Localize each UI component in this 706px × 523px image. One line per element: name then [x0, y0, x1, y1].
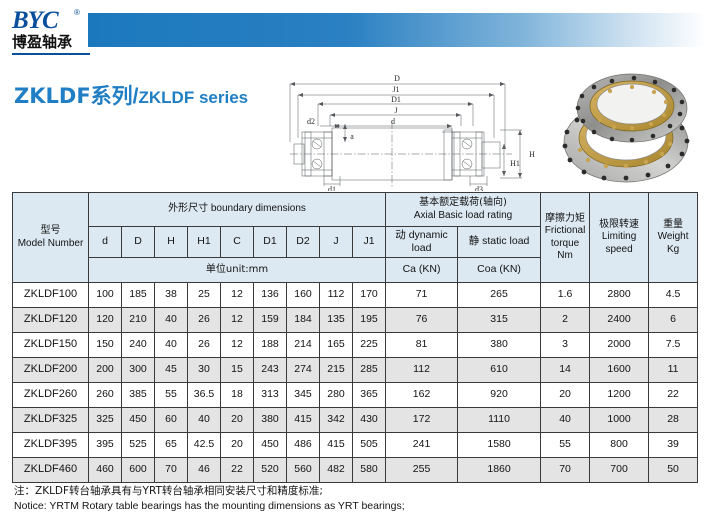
drawing-label-H: H — [529, 150, 535, 159]
cell-torque: 2 — [541, 308, 590, 333]
cell-D2: 415 — [287, 408, 320, 433]
drawing-label-d2: d2 — [307, 117, 315, 126]
cell-model-number: ZKLDF100 — [13, 283, 89, 308]
table-header-row-1: 型号 Model Number 外形尺寸 boundary dimensions… — [13, 193, 698, 227]
cell-H: 38 — [155, 283, 188, 308]
header-model-cn: 型号 — [13, 225, 88, 238]
cell-D1: 520 — [254, 458, 287, 483]
cell-H: 60 — [155, 408, 188, 433]
logo-text-byc: BYC — [12, 8, 58, 33]
cell-D: 210 — [122, 308, 155, 333]
cell-speed: 1200 — [590, 383, 649, 408]
header-coa-unit: Coa (KN) — [458, 258, 541, 283]
cell-H: 70 — [155, 458, 188, 483]
cell-H1: 46 — [188, 458, 221, 483]
cell-weight: 22 — [649, 383, 698, 408]
header-col-D1: D1 — [254, 227, 287, 258]
cell-torque: 70 — [541, 458, 590, 483]
cell-D1: 243 — [254, 358, 287, 383]
cell-torque: 1.6 — [541, 283, 590, 308]
cell-Ca: 81 — [386, 333, 458, 358]
cell-J1: 195 — [353, 308, 386, 333]
header-weight: 重量 Weight Kg — [649, 193, 698, 283]
cell-D: 450 — [122, 408, 155, 433]
cell-D2: 345 — [287, 383, 320, 408]
table-row: ZKLDF20020030045301524327421528511261014… — [13, 358, 698, 383]
cell-J: 112 — [320, 283, 353, 308]
cell-speed: 2800 — [590, 283, 649, 308]
cell-D2: 160 — [287, 283, 320, 308]
cell-D2: 214 — [287, 333, 320, 358]
table-row: ZKLDF100100185382512136160112170712651.6… — [13, 283, 698, 308]
cell-Ca: 172 — [386, 408, 458, 433]
cell-C: 22 — [221, 458, 254, 483]
product-photo — [556, 60, 701, 188]
header-col-H: H — [155, 227, 188, 258]
cell-D2: 184 — [287, 308, 320, 333]
cell-C: 12 — [221, 333, 254, 358]
header-boundary-en: boundary dimensions — [211, 203, 306, 214]
cell-H: 40 — [155, 308, 188, 333]
cell-J1: 225 — [353, 333, 386, 358]
header-weight-unit: Kg — [649, 244, 697, 257]
header-static-cn: 静 — [469, 235, 480, 247]
header-speed-en2: speed — [590, 244, 648, 257]
header-col-J1: J1 — [353, 227, 386, 258]
cell-J: 135 — [320, 308, 353, 333]
page-title-chinese: ZKLDF系列 — [14, 84, 133, 108]
cell-H1: 30 — [188, 358, 221, 383]
drawing-label-D: D — [394, 74, 400, 83]
logo-underline — [12, 53, 90, 55]
header-load-cn: 基本额定载荷(轴向) — [386, 197, 540, 210]
cell-D: 300 — [122, 358, 155, 383]
header-col-H1: H1 — [188, 227, 221, 258]
cell-J: 165 — [320, 333, 353, 358]
header-col-D: D — [122, 227, 155, 258]
cell-weight: 4.5 — [649, 283, 698, 308]
table-row: ZKLDF15015024040261218821416522581380320… — [13, 333, 698, 358]
cell-H1: 36.5 — [188, 383, 221, 408]
registered-trademark-icon: ® — [74, 8, 80, 17]
cell-model-number: ZKLDF325 — [13, 408, 89, 433]
header-model-en: Model Number — [13, 238, 88, 251]
cell-C: 20 — [221, 433, 254, 458]
header-ca-unit: Ca (KN) — [386, 258, 458, 283]
header-col-d: d — [89, 227, 122, 258]
cell-weight: 11 — [649, 358, 698, 383]
cell-torque: 55 — [541, 433, 590, 458]
cell-C: 15 — [221, 358, 254, 383]
cell-D2: 486 — [287, 433, 320, 458]
header-frictional-torque: 摩擦力矩 Frictional torque Nm — [541, 193, 590, 283]
cell-d: 100 — [89, 283, 122, 308]
cell-Coa: 1580 — [458, 433, 541, 458]
cell-Ca: 76 — [386, 308, 458, 333]
cell-J1: 365 — [353, 383, 386, 408]
cell-Coa: 920 — [458, 383, 541, 408]
header-model-number: 型号 Model Number — [13, 193, 89, 283]
cell-H: 40 — [155, 333, 188, 358]
cell-model-number: ZKLDF395 — [13, 433, 89, 458]
cell-Ca: 255 — [386, 458, 458, 483]
cell-torque: 20 — [541, 383, 590, 408]
header-dynamic-en: dynamic load — [409, 229, 448, 254]
header-load-rating: 基本额定载荷(轴向) Axial Basic load rating — [386, 193, 541, 227]
cell-D: 600 — [122, 458, 155, 483]
cell-speed: 800 — [590, 433, 649, 458]
cell-D1: 313 — [254, 383, 287, 408]
cell-H1: 42.5 — [188, 433, 221, 458]
header-limiting-speed: 极限转速 Limiting speed — [590, 193, 649, 283]
header-torque-en1: Frictional — [541, 225, 589, 238]
cell-speed: 1600 — [590, 358, 649, 383]
cell-D: 385 — [122, 383, 155, 408]
notice-english: Notice: YRTM Rotary table bearings has t… — [14, 499, 405, 514]
cell-weight: 7.5 — [649, 333, 698, 358]
cell-H1: 26 — [188, 333, 221, 358]
cell-D2: 274 — [287, 358, 320, 383]
cell-model-number: ZKLDF120 — [13, 308, 89, 333]
cell-D: 240 — [122, 333, 155, 358]
cell-D1: 450 — [254, 433, 287, 458]
cell-d: 460 — [89, 458, 122, 483]
cell-D1: 380 — [254, 408, 287, 433]
table-row: ZKLDF46046060070462252056048258025518607… — [13, 458, 698, 483]
cell-J: 280 — [320, 383, 353, 408]
table-row: ZKLDF32532545060402038041534243017211104… — [13, 408, 698, 433]
cell-Ca: 112 — [386, 358, 458, 383]
table-row: ZKLDF2602603855536.518313345280365162920… — [13, 383, 698, 408]
cell-speed: 2000 — [590, 333, 649, 358]
page-header: BYC ® 博盈轴承 — [0, 0, 706, 58]
cell-torque: 40 — [541, 408, 590, 433]
cell-weight: 39 — [649, 433, 698, 458]
cell-C: 12 — [221, 283, 254, 308]
cell-speed: 1000 — [590, 408, 649, 433]
cell-d: 395 — [89, 433, 122, 458]
cell-D1: 188 — [254, 333, 287, 358]
cell-C: 12 — [221, 308, 254, 333]
logo-text-chinese: 博盈轴承 — [12, 34, 72, 51]
header-banner-bar — [88, 13, 706, 47]
header-speed-en1: Limiting — [590, 231, 648, 244]
drawing-label-J: J — [394, 106, 397, 115]
cell-C: 18 — [221, 383, 254, 408]
cell-J: 482 — [320, 458, 353, 483]
drawing-label-d: d — [391, 117, 395, 126]
header-col-D2: D2 — [287, 227, 320, 258]
cell-speed: 2400 — [590, 308, 649, 333]
company-logo: BYC ® 博盈轴承 — [12, 6, 92, 54]
cell-J: 415 — [320, 433, 353, 458]
table-row: ZKLDF3953955256542.520450486415505241158… — [13, 433, 698, 458]
cell-D: 185 — [122, 283, 155, 308]
header-torque-en2: torque — [541, 238, 589, 251]
cell-H: 45 — [155, 358, 188, 383]
cell-d: 200 — [89, 358, 122, 383]
header-weight-en1: Weight — [649, 231, 697, 244]
cell-model-number: ZKLDF460 — [13, 458, 89, 483]
drawing-label-D1: D1 — [391, 95, 401, 104]
header-load-en: Axial Basic load rating — [386, 210, 540, 223]
header-boundary-dimensions: 外形尺寸 boundary dimensions — [89, 193, 386, 227]
drawing-label-H1: H1 — [510, 159, 520, 168]
cell-Coa: 1860 — [458, 458, 541, 483]
cell-H: 55 — [155, 383, 188, 408]
cell-model-number: ZKLDF200 — [13, 358, 89, 383]
cell-torque: 3 — [541, 333, 590, 358]
header-speed-cn: 极限转速 — [590, 219, 648, 232]
cell-Coa: 610 — [458, 358, 541, 383]
header-col-C: C — [221, 227, 254, 258]
cell-J1: 505 — [353, 433, 386, 458]
cell-torque: 14 — [541, 358, 590, 383]
header-static-en: static load — [482, 235, 529, 247]
header-dynamic-load: 动 dynamic load — [386, 227, 458, 258]
specification-table: 型号 Model Number 外形尺寸 boundary dimensions… — [12, 192, 698, 483]
cell-d: 325 — [89, 408, 122, 433]
table-row: ZKLDF12012021040261215918413519576315224… — [13, 308, 698, 333]
drawing-label-d1: d1 — [328, 185, 336, 191]
cell-Ca: 162 — [386, 383, 458, 408]
header-torque-cn: 摩擦力矩 — [541, 213, 589, 226]
header-static-load: 静 static load — [458, 227, 541, 258]
notice-chinese: 注：ZKLDF转台轴承具有与YRT转台轴承相同安装尺寸和精度标准; — [14, 484, 405, 499]
cell-J: 215 — [320, 358, 353, 383]
notice-block: 注：ZKLDF转台轴承具有与YRT转台轴承相同安装尺寸和精度标准; Notice… — [14, 484, 405, 514]
header-unit-label: 单位unit:mm — [206, 264, 268, 275]
drawing-label-J1: J1 — [392, 85, 399, 94]
cell-J1: 170 — [353, 283, 386, 308]
cell-D1: 159 — [254, 308, 287, 333]
cell-d: 120 — [89, 308, 122, 333]
cell-D: 525 — [122, 433, 155, 458]
cell-weight: 50 — [649, 458, 698, 483]
cell-weight: 28 — [649, 408, 698, 433]
cell-Ca: 241 — [386, 433, 458, 458]
cell-J1: 285 — [353, 358, 386, 383]
cell-H1: 26 — [188, 308, 221, 333]
header-weight-cn: 重量 — [649, 219, 697, 232]
bearing-cross-section-drawing: D J1 D1 J d d2 a d1 d3 H H1 — [272, 66, 557, 191]
cell-Coa: 380 — [458, 333, 541, 358]
header-col-J: J — [320, 227, 353, 258]
drawing-label-a: a — [350, 132, 354, 141]
header-dynamic-cn: 动 — [395, 229, 406, 241]
cell-d: 260 — [89, 383, 122, 408]
cell-C: 20 — [221, 408, 254, 433]
header-torque-unit: Nm — [541, 250, 589, 263]
cell-model-number: ZKLDF150 — [13, 333, 89, 358]
header-unit-row: 单位unit:mm — [89, 258, 386, 283]
cell-Coa: 265 — [458, 283, 541, 308]
cell-H1: 25 — [188, 283, 221, 308]
cell-H: 65 — [155, 433, 188, 458]
page-title: ZKLDF系列/ZKLDF series — [14, 80, 248, 110]
header-boundary-cn: 外形尺寸 — [168, 203, 208, 214]
cell-H1: 40 — [188, 408, 221, 433]
drawing-label-d3: d3 — [475, 185, 483, 191]
page-title-english: ZKLDF series — [139, 88, 249, 107]
cell-Ca: 71 — [386, 283, 458, 308]
cell-J1: 580 — [353, 458, 386, 483]
cell-D1: 136 — [254, 283, 287, 308]
cell-weight: 6 — [649, 308, 698, 333]
cell-D2: 560 — [287, 458, 320, 483]
cell-J1: 430 — [353, 408, 386, 433]
cell-model-number: ZKLDF260 — [13, 383, 89, 408]
cell-Coa: 315 — [458, 308, 541, 333]
cell-Coa: 1110 — [458, 408, 541, 433]
cell-speed: 700 — [590, 458, 649, 483]
cell-J: 342 — [320, 408, 353, 433]
cell-d: 150 — [89, 333, 122, 358]
